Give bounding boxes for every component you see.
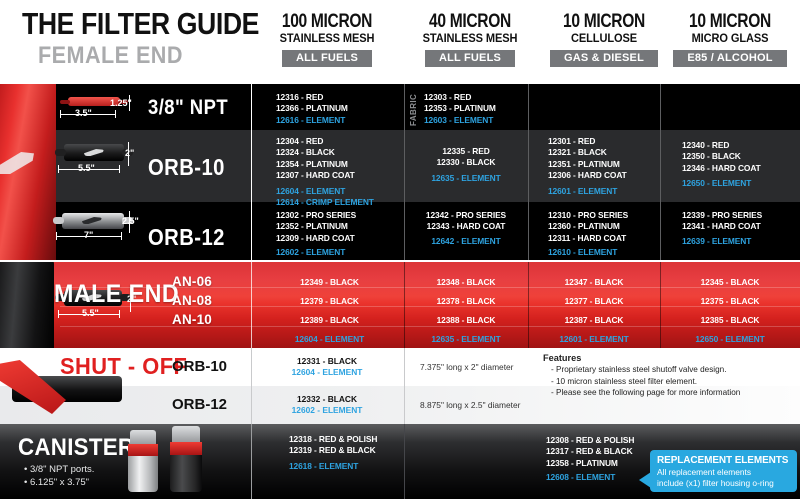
- element-line: 12639 - ELEMENT: [682, 236, 762, 247]
- column-fuel-badge: ALL FUELS: [282, 50, 372, 67]
- column-material-label: STAINLESS MESH: [260, 32, 394, 47]
- part-line: 12310 - PRO SERIES: [548, 210, 628, 221]
- part-line: 12347 - BLACK: [528, 273, 660, 292]
- shutoff-orb12-label: ORB-12: [172, 396, 227, 413]
- part-line: 12319 - RED & BLACK: [289, 445, 377, 456]
- part-line: 12345 - BLACK: [660, 273, 800, 292]
- dim-diameter-npt: 1.25": [110, 98, 132, 108]
- canister-title: CANISTER: [18, 434, 134, 462]
- shutoff-cell-orb10: 12331 - BLACK 12604 - ELEMENT: [257, 356, 397, 379]
- callout-line-1: All replacement elements: [657, 467, 790, 478]
- part-line: 12330 - BLACK: [404, 157, 528, 168]
- part-line: 12352 - PLATINUM: [276, 221, 356, 232]
- dim-tick-left: [58, 310, 59, 318]
- divider-col-1-2: [528, 84, 529, 260]
- shutoff-orb10-label: ORB-10: [172, 358, 227, 375]
- element-line: 12604 - ELEMENT: [257, 367, 397, 378]
- female-cell-npt-c0: 12316 - RED 12366 - PLATINUM 12616 - ELE…: [276, 92, 348, 126]
- element-line: 12603 - ELEMENT: [424, 115, 496, 126]
- female-cell-orb12-c1: 12342 - PRO SERIES 12343 - HARD COAT 126…: [404, 210, 528, 247]
- canister-cell-c0: 12318 - RED & POLISH 12319 - RED & BLACK…: [289, 434, 377, 472]
- part-line: 12316 - RED: [276, 92, 348, 103]
- shutoff-dim-orb10: 7.375" long x 2" diameter: [420, 362, 513, 372]
- dim-tick-left: [56, 232, 57, 240]
- female-cell-npt-c1: 12303 - RED 12353 - PLATINUM 12603 - ELE…: [424, 92, 496, 126]
- female-label-orb12: ORB-12: [148, 224, 225, 251]
- canister-cell-c2: 12308 - RED & POLISH 12317 - RED & BLACK…: [546, 435, 634, 484]
- dim-tick-right: [115, 110, 116, 118]
- part-line: 12311 - HARD COAT: [548, 233, 628, 244]
- male-cell-c3: 12345 - BLACK 12375 - BLACK 12385 - BLAC…: [660, 273, 800, 348]
- feature-item: - 10 micron stainless steel filter eleme…: [543, 376, 740, 388]
- element-line: 12635 - ELEMENT: [404, 173, 528, 184]
- page-subtitle: FEMALE END: [38, 42, 183, 70]
- part-line: 12354 - PLATINUM: [276, 159, 374, 170]
- part-line: 12341 - HARD COAT: [682, 221, 762, 232]
- female-cell-orb12-c2: 12310 - PRO SERIES 12360 - PLATINUM 1231…: [548, 210, 628, 259]
- part-line: 12335 - RED: [404, 146, 528, 157]
- callout-line-2: include (x1) filter housing o-ring: [657, 478, 790, 489]
- part-line: 12387 - BLACK: [528, 311, 660, 330]
- dim-length-orb10: 5.5": [78, 163, 95, 173]
- dim-tick-right: [119, 310, 120, 318]
- page-title: THE FILTER GUIDE: [22, 6, 259, 42]
- part-line: 12332 - BLACK: [257, 394, 397, 405]
- female-cell-orb10-c1: 12335 - RED 12330 - BLACK 12635 - ELEMEN…: [404, 146, 528, 184]
- female-cell-orb10-c2: 12301 - RED 12321 - BLACK 12351 - PLATIN…: [548, 136, 627, 197]
- feature-item: - Please see the following page for more…: [543, 387, 740, 399]
- male-size-an10: AN-10: [172, 312, 212, 327]
- shutoff-title: SHUT - OFF: [60, 353, 187, 380]
- page-header: THE FILTER GUIDE FEMALE END 100 MICRON S…: [0, 0, 800, 84]
- part-line: 12306 - HARD COAT: [548, 170, 627, 181]
- shutoff-section: SHUT - OFF ORB-10 ORB-12 12331 - BLACK 1…: [0, 348, 800, 424]
- part-line: 12360 - PLATINUM: [548, 221, 628, 232]
- dim-tick-right: [119, 165, 120, 173]
- element-line: 12616 - ELEMENT: [276, 115, 348, 126]
- features-title: Features: [543, 352, 740, 364]
- canister-bullet-size: • 6.125" x 3.75": [24, 477, 89, 488]
- callout-title: REPLACEMENT ELEMENTS: [657, 454, 790, 467]
- dim-length-orb12: 7": [84, 230, 93, 240]
- male-fitting-photo: [0, 262, 54, 348]
- dim-tick-left: [58, 165, 59, 173]
- part-line: 12324 - BLACK: [276, 147, 374, 158]
- part-line: 12307 - HARD COAT: [276, 170, 374, 181]
- features-block: Features - Proprietary stainless steel s…: [543, 352, 740, 399]
- dim-tick-left: [60, 110, 61, 118]
- female-cell-orb12-c3: 12339 - PRO SERIES 12341 - HARD COAT 126…: [682, 210, 762, 247]
- dim-length-npt: 3.5": [75, 108, 92, 118]
- part-line: 12366 - PLATINUM: [276, 103, 348, 114]
- feature-item: - Proprietary stainless steel shutoff va…: [543, 364, 740, 376]
- part-line: 12349 - BLACK: [257, 273, 402, 292]
- part-line: 12385 - BLACK: [660, 311, 800, 330]
- element-line: 12601 - ELEMENT: [528, 330, 660, 348]
- female-row-orb12: [0, 202, 800, 260]
- element-line: 12604 - ELEMENT: [276, 186, 374, 197]
- divider-left-main: [251, 262, 252, 348]
- part-line: 12346 - HARD COAT: [682, 163, 761, 174]
- part-line: 12340 - RED: [682, 140, 761, 151]
- column-micron-label: 100 MICRON: [270, 12, 385, 32]
- male-size-an06: AN-06: [172, 274, 212, 289]
- part-line: 12303 - RED: [424, 92, 496, 103]
- column-header-3: 10 MICRON MICRO GLASS E85 / ALCOHOL: [660, 12, 800, 67]
- column-material-label: STAINLESS MESH: [403, 32, 537, 47]
- element-line: 12650 - ELEMENT: [682, 178, 761, 189]
- element-line: 12650 - ELEMENT: [660, 330, 800, 348]
- part-line: 12377 - BLACK: [528, 292, 660, 311]
- dim-diameter-orb10: 2": [125, 148, 134, 158]
- element-line: 12635 - ELEMENT: [404, 330, 528, 348]
- column-fuel-badge: E85 / ALCOHOL: [673, 50, 786, 67]
- part-line: 12389 - BLACK: [257, 311, 402, 330]
- female-label-orb10: ORB-10: [148, 154, 225, 181]
- part-line: 12301 - RED: [548, 136, 627, 147]
- column-header-2: 10 MICRON CELLULOSE GAS & DIESEL: [528, 12, 680, 67]
- divider-left-main: [251, 348, 252, 424]
- red-canister-photo: [0, 84, 56, 260]
- part-line: 12358 - PLATINUM: [546, 458, 634, 469]
- column-header-0: 100 MICRON STAINLESS MESH ALL FUELS: [257, 12, 397, 67]
- male-cell-c1: 12348 - BLACK 12378 - BLACK 12388 - BLAC…: [404, 273, 528, 348]
- divider-col-2-3: [660, 84, 661, 260]
- crimp-element-line: 12614 - CRIMP ELEMENT: [276, 197, 374, 208]
- part-line: 12343 - HARD COAT: [404, 221, 528, 232]
- part-line: 12351 - PLATINUM: [548, 159, 627, 170]
- dim-diameter-orb12: 2.5": [122, 216, 139, 226]
- shutoff-cell-orb12: 12332 - BLACK 12602 - ELEMENT: [257, 394, 397, 417]
- dim-length-male: 5.5": [82, 308, 99, 318]
- part-line: 12342 - PRO SERIES: [404, 210, 528, 221]
- divider-left-main: [251, 84, 252, 260]
- element-line: 12604 - ELEMENT: [257, 330, 402, 348]
- element-line: 12602 - ELEMENT: [276, 247, 356, 258]
- part-line: 12379 - BLACK: [257, 292, 402, 311]
- female-cell-orb10-c0: 12304 - RED 12324 - BLACK 12354 - PLATIN…: [276, 136, 374, 208]
- part-line: 12317 - RED & BLACK: [546, 446, 634, 457]
- element-line: 12608 - ELEMENT: [546, 472, 634, 483]
- column-micron-label: 10 MICRON: [542, 12, 667, 32]
- part-line: 12339 - PRO SERIES: [682, 210, 762, 221]
- part-line: 12321 - BLACK: [548, 147, 627, 158]
- element-line: 12601 - ELEMENT: [548, 186, 627, 197]
- part-line: 12309 - HARD COAT: [276, 233, 356, 244]
- part-line: 12353 - PLATINUM: [424, 103, 496, 114]
- part-line: 12350 - BLACK: [682, 151, 761, 162]
- divider-left-main: [251, 424, 252, 499]
- column-material-label: MICRO GLASS: [663, 32, 797, 47]
- male-end-title: MALE END: [54, 280, 179, 309]
- part-line: 12318 - RED & POLISH: [289, 434, 377, 445]
- element-line: 12642 - ELEMENT: [404, 236, 528, 247]
- filter-guide-sheet: THE FILTER GUIDE FEMALE END 100 MICRON S…: [0, 0, 800, 499]
- male-cell-c2: 12347 - BLACK 12377 - BLACK 12387 - BLAC…: [528, 273, 660, 348]
- female-cell-orb12-c0: 12302 - PRO SERIES 12352 - PLATINUM 1230…: [276, 210, 356, 259]
- column-fuel-badge: GAS & DIESEL: [550, 50, 658, 67]
- male-size-an08: AN-08: [172, 293, 212, 308]
- column-header-1: 40 MICRON STAINLESS MESH ALL FUELS: [400, 12, 540, 67]
- part-line: 12302 - PRO SERIES: [276, 210, 356, 221]
- canister-bullet-ports: • 3/8" NPT ports.: [24, 464, 94, 475]
- column-micron-label: 40 MICRON: [413, 12, 528, 32]
- part-line: 12378 - BLACK: [404, 292, 528, 311]
- replacement-elements-callout: REPLACEMENT ELEMENTS All replacement ele…: [650, 450, 797, 492]
- element-line: 12610 - ELEMENT: [548, 247, 628, 258]
- fabric-tag-label: FABRIC: [409, 90, 418, 126]
- female-label-npt: 3/8" NPT: [148, 96, 228, 120]
- male-cell-c0: 12349 - BLACK 12379 - BLACK 12389 - BLAC…: [257, 273, 402, 348]
- column-micron-label: 10 MICRON: [673, 12, 788, 32]
- part-line: 12348 - BLACK: [404, 273, 528, 292]
- element-line: 12618 - ELEMENT: [289, 461, 377, 472]
- part-line: 12308 - RED & POLISH: [546, 435, 634, 446]
- column-material-label: CELLULOSE: [531, 32, 677, 47]
- part-line: 12388 - BLACK: [404, 311, 528, 330]
- part-line: 12304 - RED: [276, 136, 374, 147]
- divider-col-0-1: [404, 348, 405, 424]
- canister-section: CANISTER • 3/8" NPT ports. • 6.125" x 3.…: [0, 424, 800, 499]
- female-cell-orb10-c3: 12340 - RED 12350 - BLACK 12346 - HARD C…: [682, 140, 761, 190]
- divider-col-0-1: [404, 424, 405, 499]
- part-line: 12375 - BLACK: [660, 292, 800, 311]
- part-line: 12331 - BLACK: [257, 356, 397, 367]
- female-end-section: 3.5" 1.25" 3/8" NPT 5.5" 2" ORB-10 7" 2: [0, 84, 800, 260]
- column-fuel-badge: ALL FUELS: [425, 50, 515, 67]
- female-row-orb10: [0, 130, 800, 202]
- dim-tick-right: [121, 232, 122, 240]
- shutoff-dim-orb12: 8.875" long x 2.5" diameter: [420, 400, 520, 410]
- male-end-section: 5.5" 2" MALE END AN-06 AN-08 AN-10 12349…: [0, 262, 800, 348]
- element-line: 12602 - ELEMENT: [257, 405, 397, 416]
